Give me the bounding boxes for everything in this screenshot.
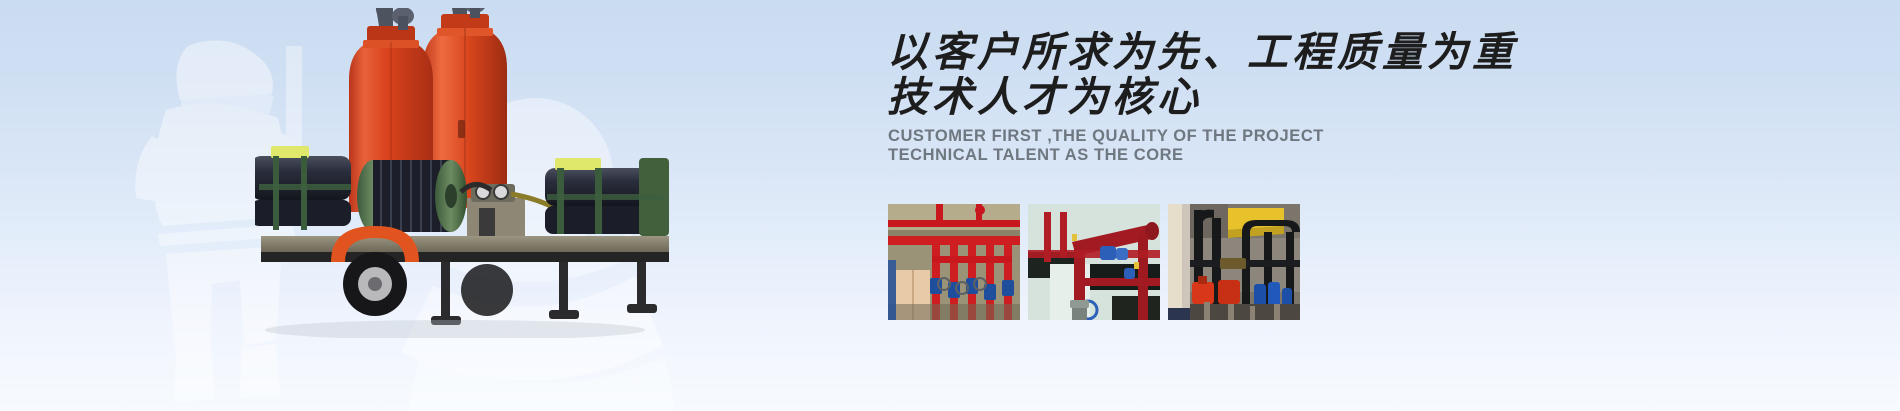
headline-line-1: 以客户所求为先、工程质量为重 xyxy=(887,27,1517,77)
hero-equipment-photo xyxy=(255,8,670,338)
hose-reel xyxy=(357,160,467,232)
thumbnail-strip xyxy=(888,204,1300,320)
hose-bundle-left xyxy=(255,146,351,230)
headline-line-2: 技术人才为核心 xyxy=(887,72,1202,122)
thumbnail-riser-pipework-stairwell[interactable] xyxy=(1028,204,1160,320)
banner-copy: 以客户所求为先、工程质量为重 技术人才为核心 CUSTOMER FIRST ,T… xyxy=(888,0,1688,411)
thumbnail-boiler-plant-room[interactable] xyxy=(1168,204,1300,320)
pump-manifold xyxy=(461,184,555,238)
subheadline-line-1: CUSTOMER FIRST ,THE QUALITY OF THE PROJE… xyxy=(888,126,1324,146)
subheadline-line-2: TECHNICAL TALENT AS THE CORE xyxy=(888,145,1184,165)
hose-bundle-right xyxy=(545,158,669,236)
hero-banner: 以客户所求为先、工程质量为重 技术人才为核心 CUSTOMER FIRST ,T… xyxy=(0,0,1900,411)
thumbnail-fire-sprinkler-pump-room[interactable] xyxy=(888,204,1020,320)
